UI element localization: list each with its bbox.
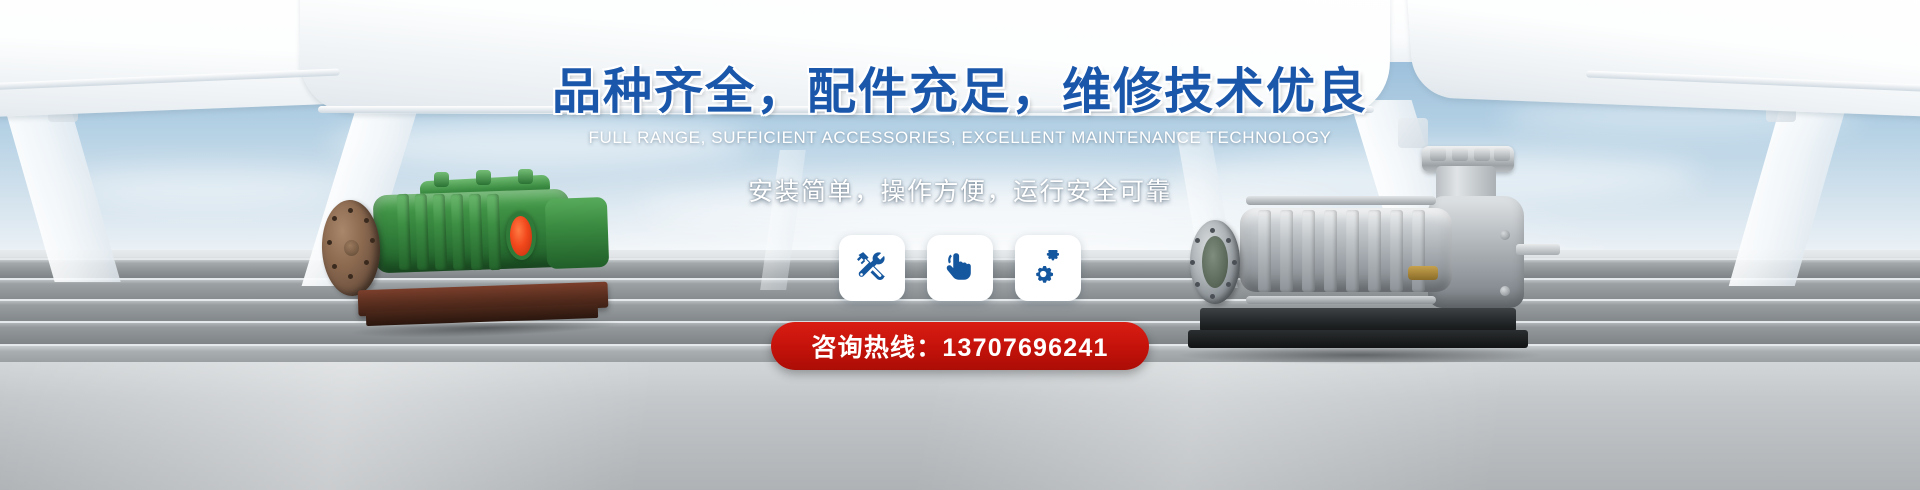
feature-card-tools[interactable] xyxy=(839,235,905,301)
feature-card-easy-operation[interactable] xyxy=(927,235,993,301)
promo-banner: 品种齐全，配件充足，维修技术优良 FULL RANGE, SUFFICIENT … xyxy=(0,0,1920,490)
tools-icon xyxy=(854,250,890,286)
subtitle-english: FULL RANGE, SUFFICIENT ACCESSORIES, EXCE… xyxy=(589,128,1332,148)
hotline-text: 咨询热线：13707696241 xyxy=(811,328,1108,364)
feature-card-parts[interactable] xyxy=(1015,235,1081,301)
headline-title: 品种齐全，配件充足，维修技术优良 xyxy=(552,66,1368,119)
hand-click-icon xyxy=(942,250,978,286)
feature-icon-row xyxy=(839,235,1081,301)
gears-icon xyxy=(1030,250,1066,286)
subtitle-chinese: 安装简单，操作方便，运行安全可靠 xyxy=(748,172,1172,208)
banner-content: 品种齐全，配件充足，维修技术优良 FULL RANGE, SUFFICIENT … xyxy=(0,0,1920,490)
hotline-button[interactable]: 咨询热线：13707696241 xyxy=(771,322,1148,370)
